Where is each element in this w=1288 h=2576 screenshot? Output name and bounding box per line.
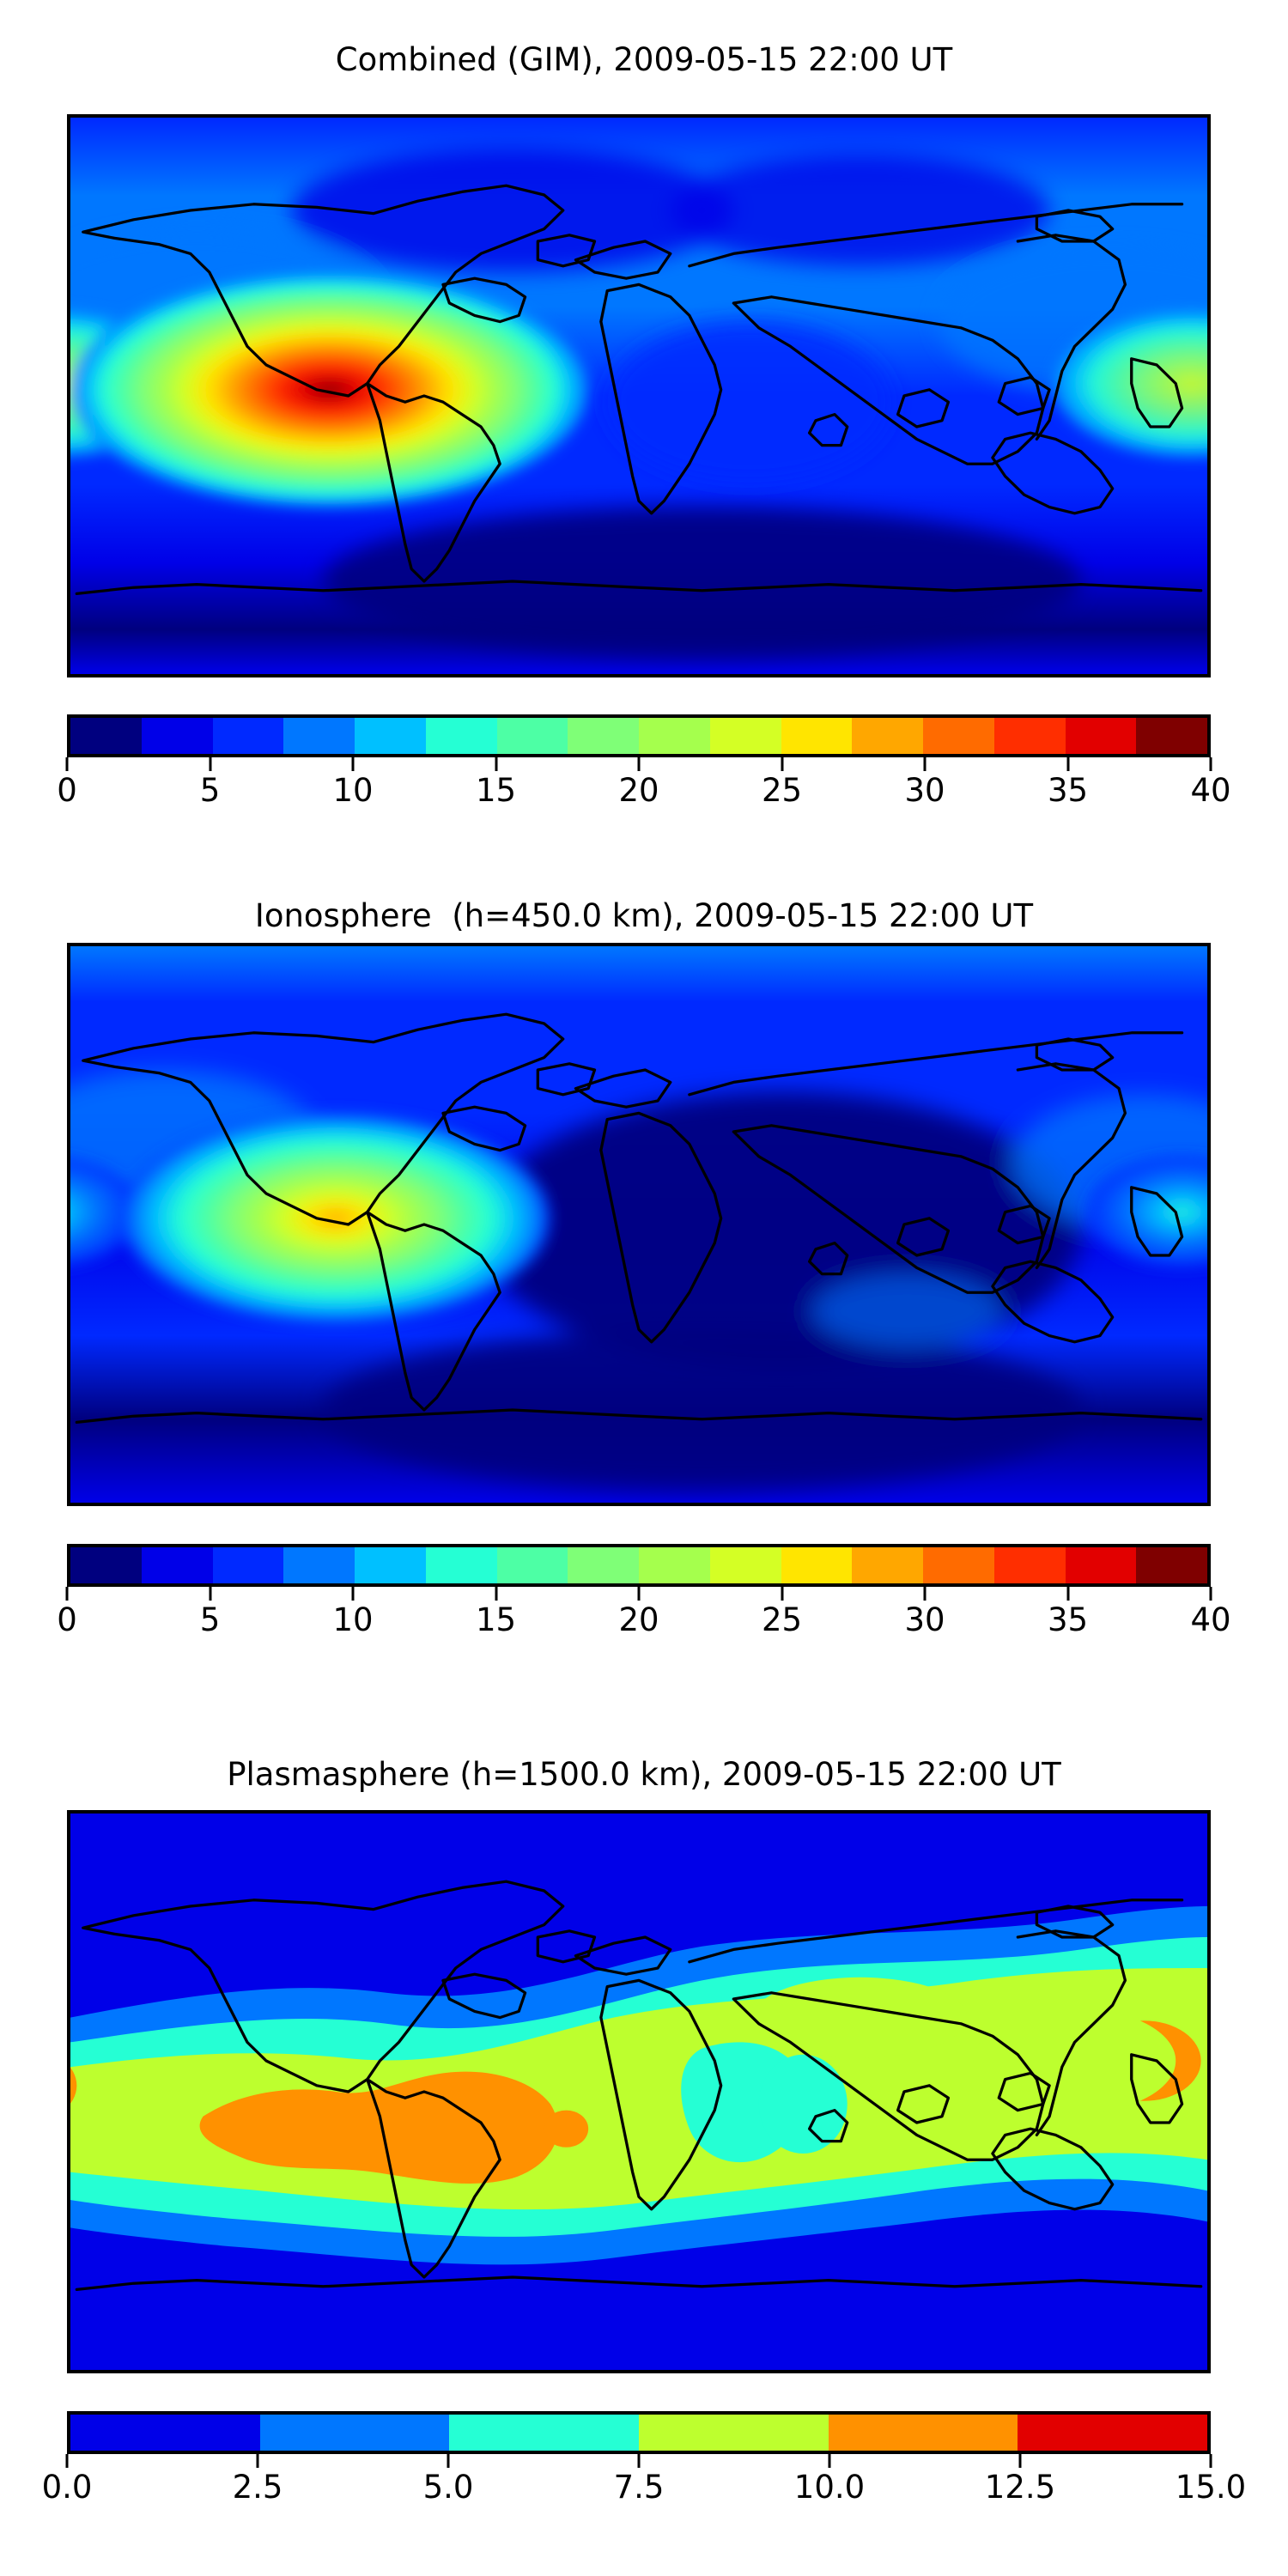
colorbar-band bbox=[781, 1547, 853, 1583]
colorbar-band bbox=[781, 718, 853, 754]
colorbar-tick-label: 35 bbox=[1048, 771, 1088, 811]
colorbar-band bbox=[283, 718, 355, 754]
colorbar-band bbox=[426, 1547, 497, 1583]
colorbar-tick-label: 15.0 bbox=[1176, 2468, 1246, 2507]
colorbar-tick-label: 25 bbox=[762, 771, 802, 811]
colorbar-band bbox=[852, 718, 923, 754]
colorbar-band bbox=[70, 2415, 260, 2451]
colorbar-band bbox=[639, 718, 710, 754]
panel-plasmasphere-title: Plasmasphere (h=1500.0 km), 2009-05-15 2… bbox=[0, 1756, 1288, 1793]
colorbar-band bbox=[639, 1547, 710, 1583]
colorbar-band bbox=[283, 1547, 355, 1583]
colorbar-band bbox=[142, 1547, 213, 1583]
panel-combined-map bbox=[67, 114, 1211, 677]
colorbar-3-ticks bbox=[67, 2454, 1211, 2468]
panel-combined-map-svg bbox=[70, 118, 1207, 674]
colorbar-tick-label: 10 bbox=[332, 1601, 373, 1640]
colorbar-tick-label: 5.0 bbox=[423, 2468, 474, 2507]
colorbar-band bbox=[355, 1547, 426, 1583]
colorbar-2-ticks bbox=[67, 1587, 1211, 1601]
colorbar-band bbox=[1136, 718, 1207, 754]
colorbar-band bbox=[852, 1547, 923, 1583]
colorbar-band bbox=[1066, 718, 1137, 754]
colorbar-band bbox=[260, 2415, 450, 2451]
colorbar-tick-label: 5 bbox=[200, 771, 221, 811]
panel-ionosphere-title: Ionosphere (h=450.0 km), 2009-05-15 22:0… bbox=[0, 897, 1288, 934]
colorbar-band bbox=[1018, 2415, 1207, 2451]
colorbar-band bbox=[497, 1547, 568, 1583]
colorbar-tick-label: 35 bbox=[1048, 1601, 1088, 1640]
colorbar-band bbox=[710, 718, 781, 754]
colorbar-tick-label: 0 bbox=[57, 771, 77, 811]
colorbar-tick-label: 20 bbox=[618, 771, 659, 811]
colorbar-tick-label: 30 bbox=[904, 1601, 945, 1640]
colorbar-tick-label: 2.5 bbox=[233, 2468, 283, 2507]
panel-combined-title: Combined (GIM), 2009-05-15 22:00 UT bbox=[0, 41, 1288, 78]
colorbar-band bbox=[355, 718, 426, 754]
colorbar-tick-label: 25 bbox=[762, 1601, 802, 1640]
colorbar-band bbox=[70, 1547, 142, 1583]
colorbar-tick-label: 7.5 bbox=[614, 2468, 665, 2507]
colorbar-band bbox=[923, 1547, 994, 1583]
colorbar-band bbox=[426, 718, 497, 754]
panel-ionosphere-map-svg bbox=[70, 946, 1207, 1503]
colorbar-1-ticks bbox=[67, 757, 1211, 771]
colorbar-band bbox=[497, 718, 568, 754]
colorbar-1-bands bbox=[67, 714, 1211, 757]
colorbar-tick-label: 0 bbox=[57, 1601, 77, 1640]
colorbar-band bbox=[449, 2415, 639, 2451]
colorbar-band bbox=[923, 718, 994, 754]
panel-plasmasphere-colorbar: 0.0 2.5 5.0 7.5 10.0 12.5 15.0 bbox=[67, 2411, 1211, 2507]
colorbar-band bbox=[829, 2415, 1018, 2451]
colorbar-tick-label: 40 bbox=[1190, 1601, 1230, 1640]
panel-combined-colorbar: 0 5 10 15 20 25 30 35 40 bbox=[67, 714, 1211, 811]
panel-ionosphere-map bbox=[67, 943, 1211, 1506]
colorbar-band bbox=[1136, 1547, 1207, 1583]
colorbar-band bbox=[568, 718, 639, 754]
colorbar-tick-label: 15 bbox=[476, 1601, 516, 1640]
colorbar-tick-label: 10.0 bbox=[794, 2468, 865, 2507]
colorbar-tick-label: 10 bbox=[332, 771, 373, 811]
colorbar-tick-label: 12.5 bbox=[985, 2468, 1055, 2507]
colorbar-1-labels: 0 5 10 15 20 25 30 35 40 bbox=[67, 771, 1211, 811]
colorbar-2-bands bbox=[67, 1544, 1211, 1587]
colorbar-band bbox=[994, 718, 1066, 754]
colorbar-3-bands bbox=[67, 2411, 1211, 2454]
colorbar-tick-label: 15 bbox=[476, 771, 516, 811]
tec-figure: Combined (GIM), 2009-05-15 22:00 UT bbox=[0, 0, 1288, 2576]
colorbar-3-labels: 0.0 2.5 5.0 7.5 10.0 12.5 15.0 bbox=[67, 2468, 1211, 2507]
colorbar-band bbox=[142, 718, 213, 754]
colorbar-band bbox=[213, 1547, 284, 1583]
colorbar-2-labels: 0 5 10 15 20 25 30 35 40 bbox=[67, 1601, 1211, 1640]
colorbar-band bbox=[1066, 1547, 1137, 1583]
colorbar-band bbox=[710, 1547, 781, 1583]
colorbar-tick-label: 40 bbox=[1190, 771, 1230, 811]
colorbar-tick-label: 0.0 bbox=[42, 2468, 93, 2507]
panel-ionosphere-colorbar: 0 5 10 15 20 25 30 35 40 bbox=[67, 1544, 1211, 1640]
colorbar-tick-label: 5 bbox=[200, 1601, 221, 1640]
colorbar-band bbox=[568, 1547, 639, 1583]
colorbar-band bbox=[213, 718, 284, 754]
colorbar-band bbox=[994, 1547, 1066, 1583]
colorbar-band bbox=[70, 718, 142, 754]
colorbar-tick-label: 20 bbox=[618, 1601, 659, 1640]
panel-plasmasphere-map bbox=[67, 1810, 1211, 2373]
colorbar-tick-label: 30 bbox=[904, 771, 945, 811]
colorbar-band bbox=[639, 2415, 829, 2451]
panel-plasmasphere-map-svg bbox=[70, 1814, 1207, 2370]
